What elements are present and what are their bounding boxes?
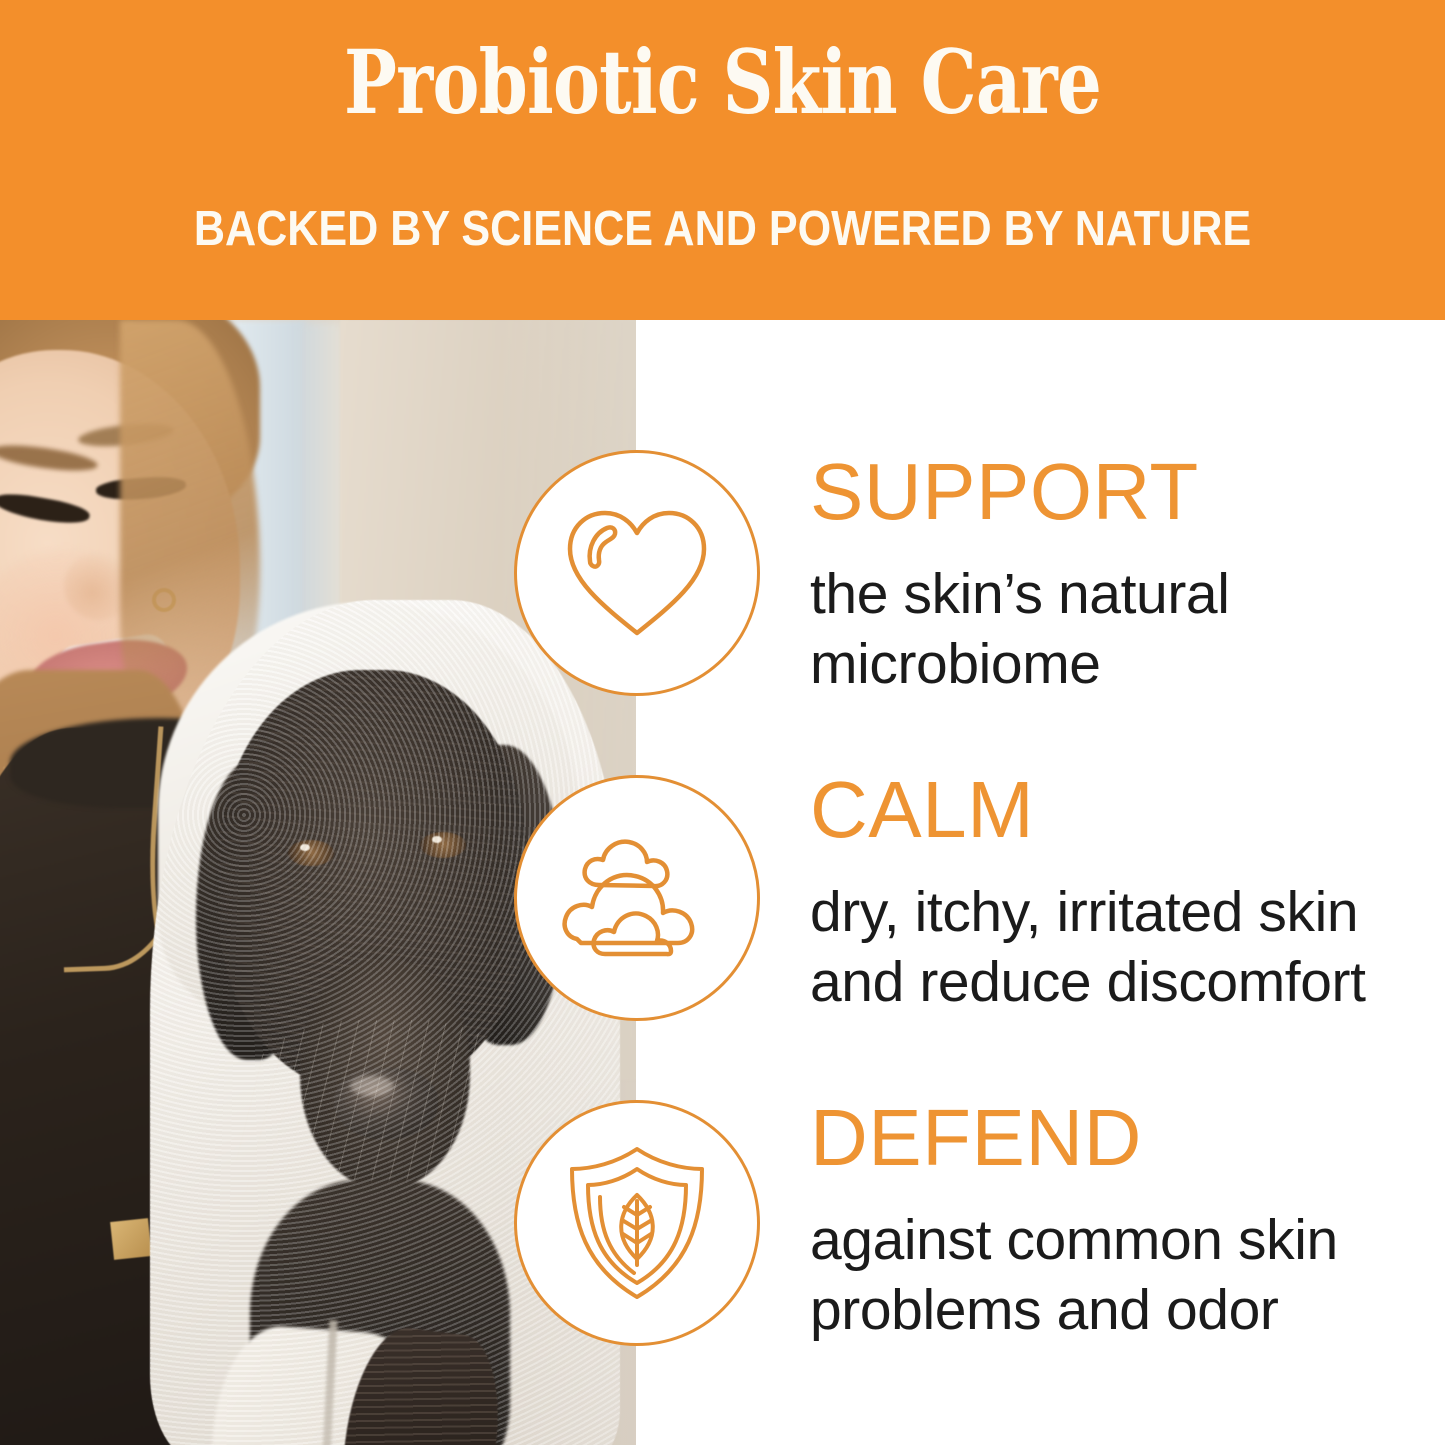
infographic-page: Probiotic Skin Care BACKED BY SCIENCE AN… [0, 0, 1445, 1445]
feature-icon-circle-support [514, 450, 760, 696]
shield-leaf-icon [564, 1143, 710, 1303]
feature-heading-support: SUPPORT [810, 452, 1199, 532]
feature-body-defend: against common skin problems and odor [810, 1206, 1410, 1345]
heart-icon [562, 505, 712, 641]
clouds-icon [559, 835, 715, 961]
header-banner: Probiotic Skin Care BACKED BY SCIENCE AN… [0, 0, 1445, 320]
feature-body-calm: dry, itchy, irritated skin and reduce di… [810, 878, 1410, 1017]
feature-heading-calm: CALM [810, 770, 1034, 850]
page-title: Probiotic Skin Care [145, 38, 1301, 126]
feature-body-support: the skin’s natural microbiome [810, 560, 1410, 699]
feature-icon-circle-defend [514, 1100, 760, 1346]
page-subtitle: BACKED BY SCIENCE AND POWERED BY NATURE [87, 205, 1359, 254]
feature-icon-circle-calm [514, 775, 760, 1021]
feature-heading-defend: DEFEND [810, 1098, 1142, 1178]
